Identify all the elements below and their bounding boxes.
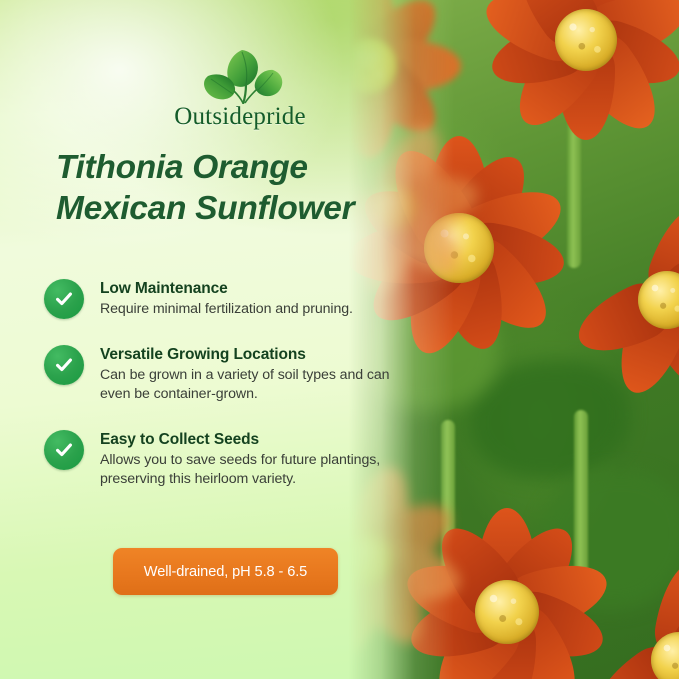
feature-item: Easy to Collect Seeds Allows you to save…: [44, 430, 436, 489]
flower-stem: [567, 118, 581, 268]
badge-label: Well-drained, pH 5.8 - 6.5: [144, 564, 307, 580]
feature-body: Can be grown in a variety of soil types …: [100, 366, 418, 404]
feature-item: Low Maintenance Require minimal fertiliz…: [44, 279, 436, 319]
feature-heading: Low Maintenance: [100, 280, 353, 298]
page-title: Tithonia Orange Mexican Sunflower: [56, 148, 456, 230]
leaf-blob: [469, 360, 629, 480]
check-circle-icon: [44, 345, 84, 385]
title-line-2: Mexican Sunflower: [56, 190, 354, 227]
feature-heading: Versatile Growing Locations: [100, 346, 418, 364]
leaf-sprout-icon: [142, 44, 338, 104]
feature-list: Low Maintenance Require minimal fertiliz…: [44, 279, 436, 515]
feature-body: Require minimal fertilization and prunin…: [100, 300, 353, 319]
feature-item: Versatile Growing Locations Can be grown…: [44, 345, 436, 404]
feature-text: Low Maintenance Require minimal fertiliz…: [100, 279, 353, 319]
product-info-card: Outsidepride Tithonia Orange Mexican Sun…: [0, 0, 679, 679]
soil-requirement-badge: Well-drained, pH 5.8 - 6.5: [113, 548, 338, 595]
feature-heading: Easy to Collect Seeds: [100, 431, 426, 449]
brand-wordmark: Outsidepride: [142, 104, 338, 129]
feature-text: Easy to Collect Seeds Allows you to save…: [100, 430, 426, 489]
check-circle-icon: [44, 430, 84, 470]
feature-body: Allows you to save seeds for future plan…: [100, 451, 426, 489]
check-circle-icon: [44, 279, 84, 319]
title-line-1: Tithonia Orange: [56, 149, 308, 186]
brand-logo[interactable]: Outsidepride: [142, 44, 338, 140]
feature-text: Versatile Growing Locations Can be grown…: [100, 345, 418, 404]
